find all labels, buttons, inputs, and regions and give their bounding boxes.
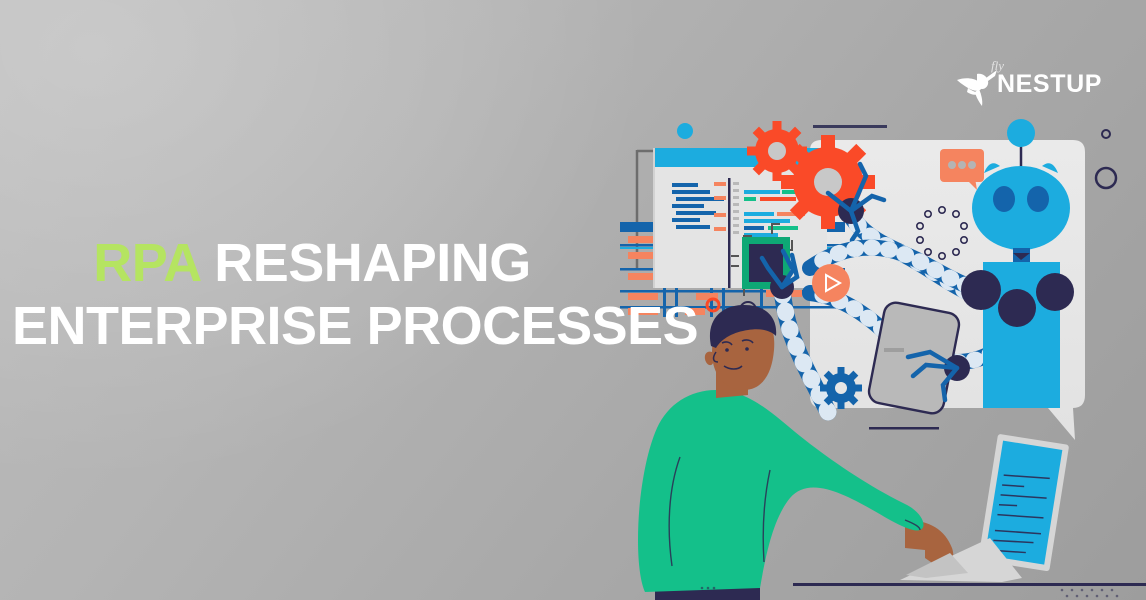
logo-wordmark: NESTUP	[997, 70, 1102, 99]
headline-line-1: RPA RESHAPING	[12, 236, 612, 291]
headline-accent: RPA	[93, 233, 200, 293]
headline-line-1-rest: RESHAPING	[214, 233, 531, 293]
gear-blue	[820, 367, 862, 409]
deco-ring-navy-small	[1102, 130, 1110, 138]
logo[interactable]: fly NESTUP	[955, 58, 1100, 114]
headline-line-2: ENTERPRISE PROCESSES	[12, 299, 612, 354]
banner-canvas: RPA RESHAPING ENTERPRISE PROCESSES fly N…	[0, 0, 1146, 600]
page-title: RPA RESHAPING ENTERPRISE PROCESSES	[12, 236, 612, 354]
laptop	[793, 434, 1146, 598]
deco-ring-navy-large	[1096, 168, 1116, 188]
deco-line-top	[813, 125, 887, 128]
deco-line-navy	[869, 427, 939, 430]
play-button[interactable]	[812, 264, 850, 302]
deco-dot-cyan	[677, 123, 693, 139]
